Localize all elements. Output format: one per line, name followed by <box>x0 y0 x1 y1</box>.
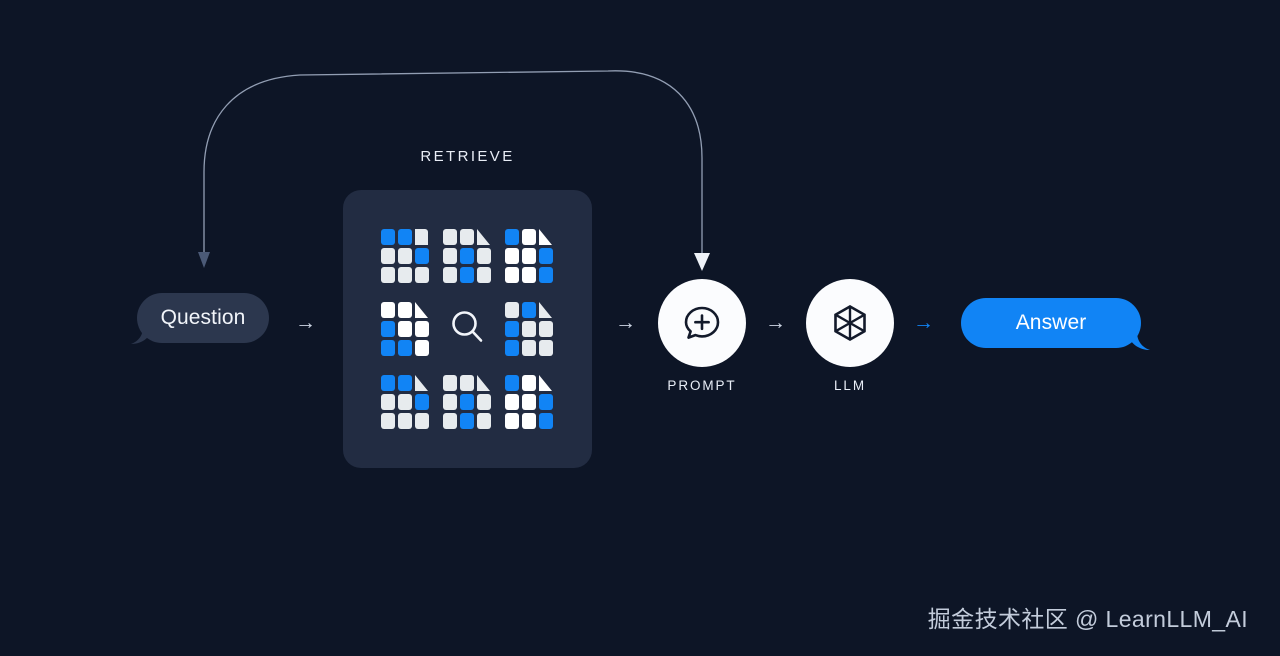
answer-label: Answer <box>1016 311 1087 335</box>
document-8[interactable] <box>504 374 554 431</box>
arrow-retrieve-to-prompt: → <box>615 312 636 333</box>
watermark-text: 掘金技术社区 @ LearnLLM_AI <box>928 600 1248 634</box>
retrieve-label: RETRIEVE <box>0 148 935 165</box>
llm-caption: LLM <box>806 378 894 393</box>
llm-disc <box>806 279 894 367</box>
prompt-disc <box>658 279 746 367</box>
question-label: Question <box>161 306 246 330</box>
document-5[interactable] <box>504 301 554 358</box>
curve-left-arrowhead <box>198 252 210 268</box>
document-3[interactable] <box>504 228 554 285</box>
document-6[interactable] <box>380 374 430 431</box>
arrow-prompt-to-llm: → <box>765 312 786 333</box>
magnifier-icon[interactable] <box>447 303 489 351</box>
document-7[interactable] <box>442 374 492 431</box>
arrow-question-to-retrieve: → <box>295 312 316 333</box>
arrow-llm-to-answer: → <box>913 312 934 333</box>
curve-right-arrowhead <box>694 253 710 271</box>
document-2[interactable] <box>442 228 492 285</box>
document-1[interactable] <box>380 228 430 285</box>
answer-bubble[interactable]: Answer <box>961 298 1141 348</box>
hexagon-cube-icon <box>828 301 872 345</box>
node-prompt[interactable]: PROMPT <box>658 279 746 393</box>
node-llm[interactable]: LLM <box>806 279 894 393</box>
retrieve-panel <box>343 190 592 468</box>
document-4[interactable] <box>380 301 430 358</box>
document-grid <box>343 190 592 468</box>
prompt-caption: PROMPT <box>658 378 746 393</box>
diagram-canvas: RETRIEVE <box>0 0 1280 656</box>
question-bubble[interactable]: Question <box>137 293 269 343</box>
chat-bubble-plus-icon <box>680 301 724 345</box>
